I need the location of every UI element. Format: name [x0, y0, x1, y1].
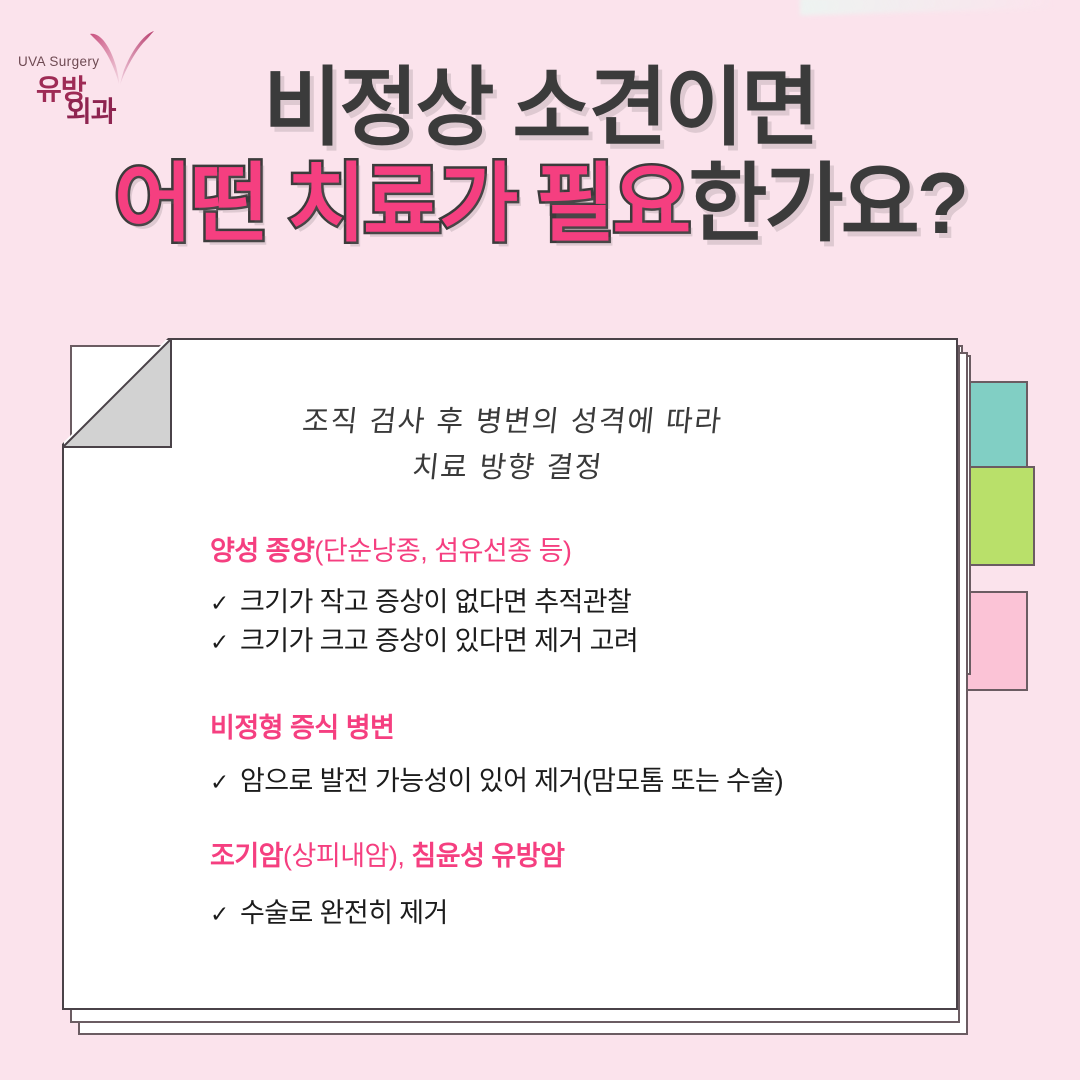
- check-icon: ✓: [210, 627, 240, 660]
- headline-line-2: 어떤 치료가 필요한가요?: [0, 156, 1080, 252]
- bullet-list: ✓암으로 발전 가능성이 있어 제거(맘모톰 또는 수술): [210, 762, 940, 800]
- headline-line-2-dark: 한가요?: [688, 156, 966, 252]
- bullet-list: ✓수술로 완전히 제거: [210, 894, 940, 932]
- folded-page-corner-icon: [62, 338, 172, 448]
- check-icon: ✓: [210, 899, 240, 932]
- section-heading-normal: (상피내암),: [283, 841, 411, 871]
- section-early-invasive-cancer: 조기암(상피내암), 침윤성 유방암 ✓수술로 완전히 제거: [210, 840, 940, 933]
- list-item-text: 크기가 크고 증상이 있다면 제거 고려: [240, 622, 638, 660]
- handwritten-line-2: 치료 방향 결정: [59, 444, 956, 490]
- list-item: ✓크기가 크고 증상이 있다면 제거 고려: [210, 622, 940, 660]
- section-heading: 양성 종양(단순낭종, 섬유선종 등): [210, 535, 940, 567]
- list-item: ✓크기가 작고 증상이 없다면 추적관찰: [210, 583, 940, 621]
- list-item-text: 수술로 완전히 제거: [240, 894, 448, 932]
- handwritten-subtitle: 조직 검사 후 병변의 성격에 따라 치료 방향 결정: [59, 398, 961, 491]
- content-card: 조직 검사 후 병변의 성격에 따라 치료 방향 결정 양성 종양(단순낭종, …: [62, 338, 958, 1010]
- section-heading-bold: 조기암: [210, 841, 283, 871]
- tab-green[interactable]: [965, 466, 1035, 566]
- section-heading-normal: (단순낭종, 섬유선종 등): [314, 536, 571, 566]
- bullet-list: ✓크기가 작고 증상이 없다면 추적관찰 ✓크기가 크고 증상이 있다면 제거 …: [210, 583, 940, 660]
- check-icon: ✓: [210, 588, 240, 621]
- headline-line-1: 비정상 소견이면: [0, 60, 1080, 156]
- section-heading: 비정형 증식 병변: [210, 712, 940, 744]
- handwritten-line-1: 조직 검사 후 병변의 성격에 따라: [64, 398, 961, 444]
- section-heading: 조기암(상피내암), 침윤성 유방암: [210, 840, 940, 872]
- top-highlight-artifact: [800, 0, 1050, 15]
- list-item: ✓수술로 완전히 제거: [210, 894, 940, 932]
- section-heading-bold: 양성 종양: [210, 536, 314, 566]
- section-atypical-hyperplasia: 비정형 증식 병변 ✓암으로 발전 가능성이 있어 제거(맘모톰 또는 수술): [210, 712, 940, 801]
- list-item: ✓암으로 발전 가능성이 있어 제거(맘모톰 또는 수술): [210, 762, 940, 800]
- list-item-text: 크기가 작고 증상이 없다면 추적관찰: [240, 583, 631, 621]
- section-benign-tumor: 양성 종양(단순낭종, 섬유선종 등) ✓크기가 작고 증상이 없다면 추적관찰…: [210, 535, 940, 660]
- headline: 비정상 소견이면 어떤 치료가 필요한가요?: [0, 60, 1080, 253]
- section-heading-bold-2: 침윤성 유방암: [411, 841, 564, 871]
- headline-line-2-pink: 어떤 치료가 필요: [114, 156, 689, 252]
- section-heading-bold: 비정형 증식 병변: [210, 713, 394, 743]
- list-item-text: 암으로 발전 가능성이 있어 제거(맘모톰 또는 수술): [240, 762, 783, 800]
- check-icon: ✓: [210, 767, 240, 800]
